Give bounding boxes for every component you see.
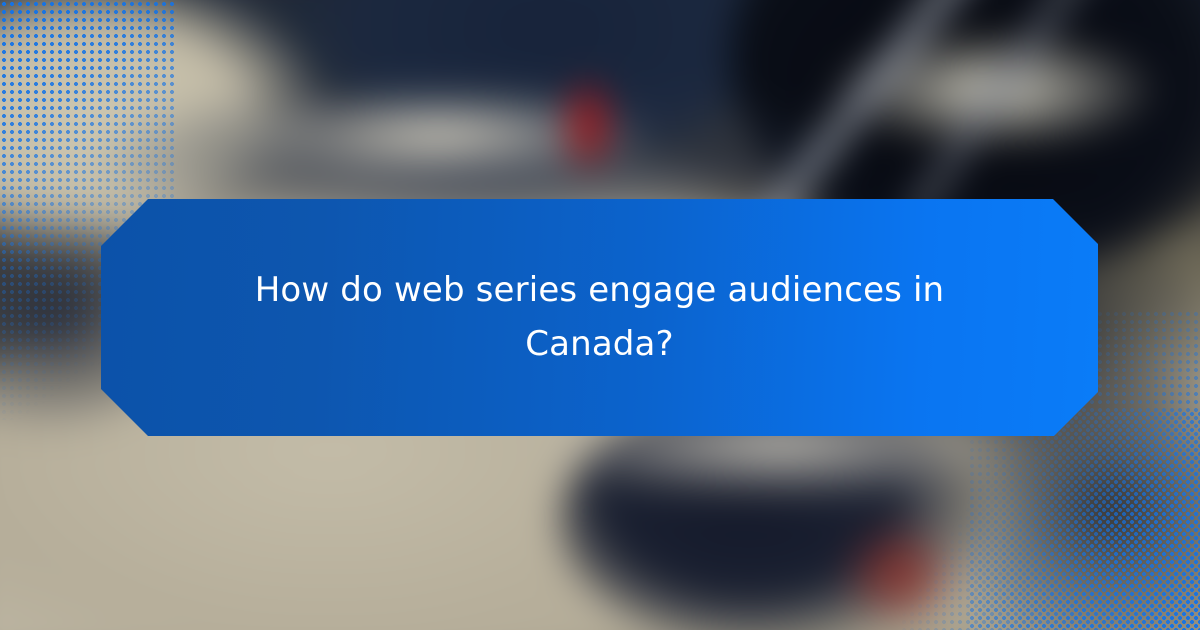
background-red-accent-1 bbox=[565, 80, 611, 170]
background-red-accent-2 bbox=[840, 520, 960, 630]
headline-text: How do web series engage audiences in Ca… bbox=[101, 264, 1098, 370]
share-card: How do web series engage audiences in Ca… bbox=[0, 0, 1200, 630]
headline-banner: How do web series engage audiences in Ca… bbox=[101, 199, 1098, 436]
